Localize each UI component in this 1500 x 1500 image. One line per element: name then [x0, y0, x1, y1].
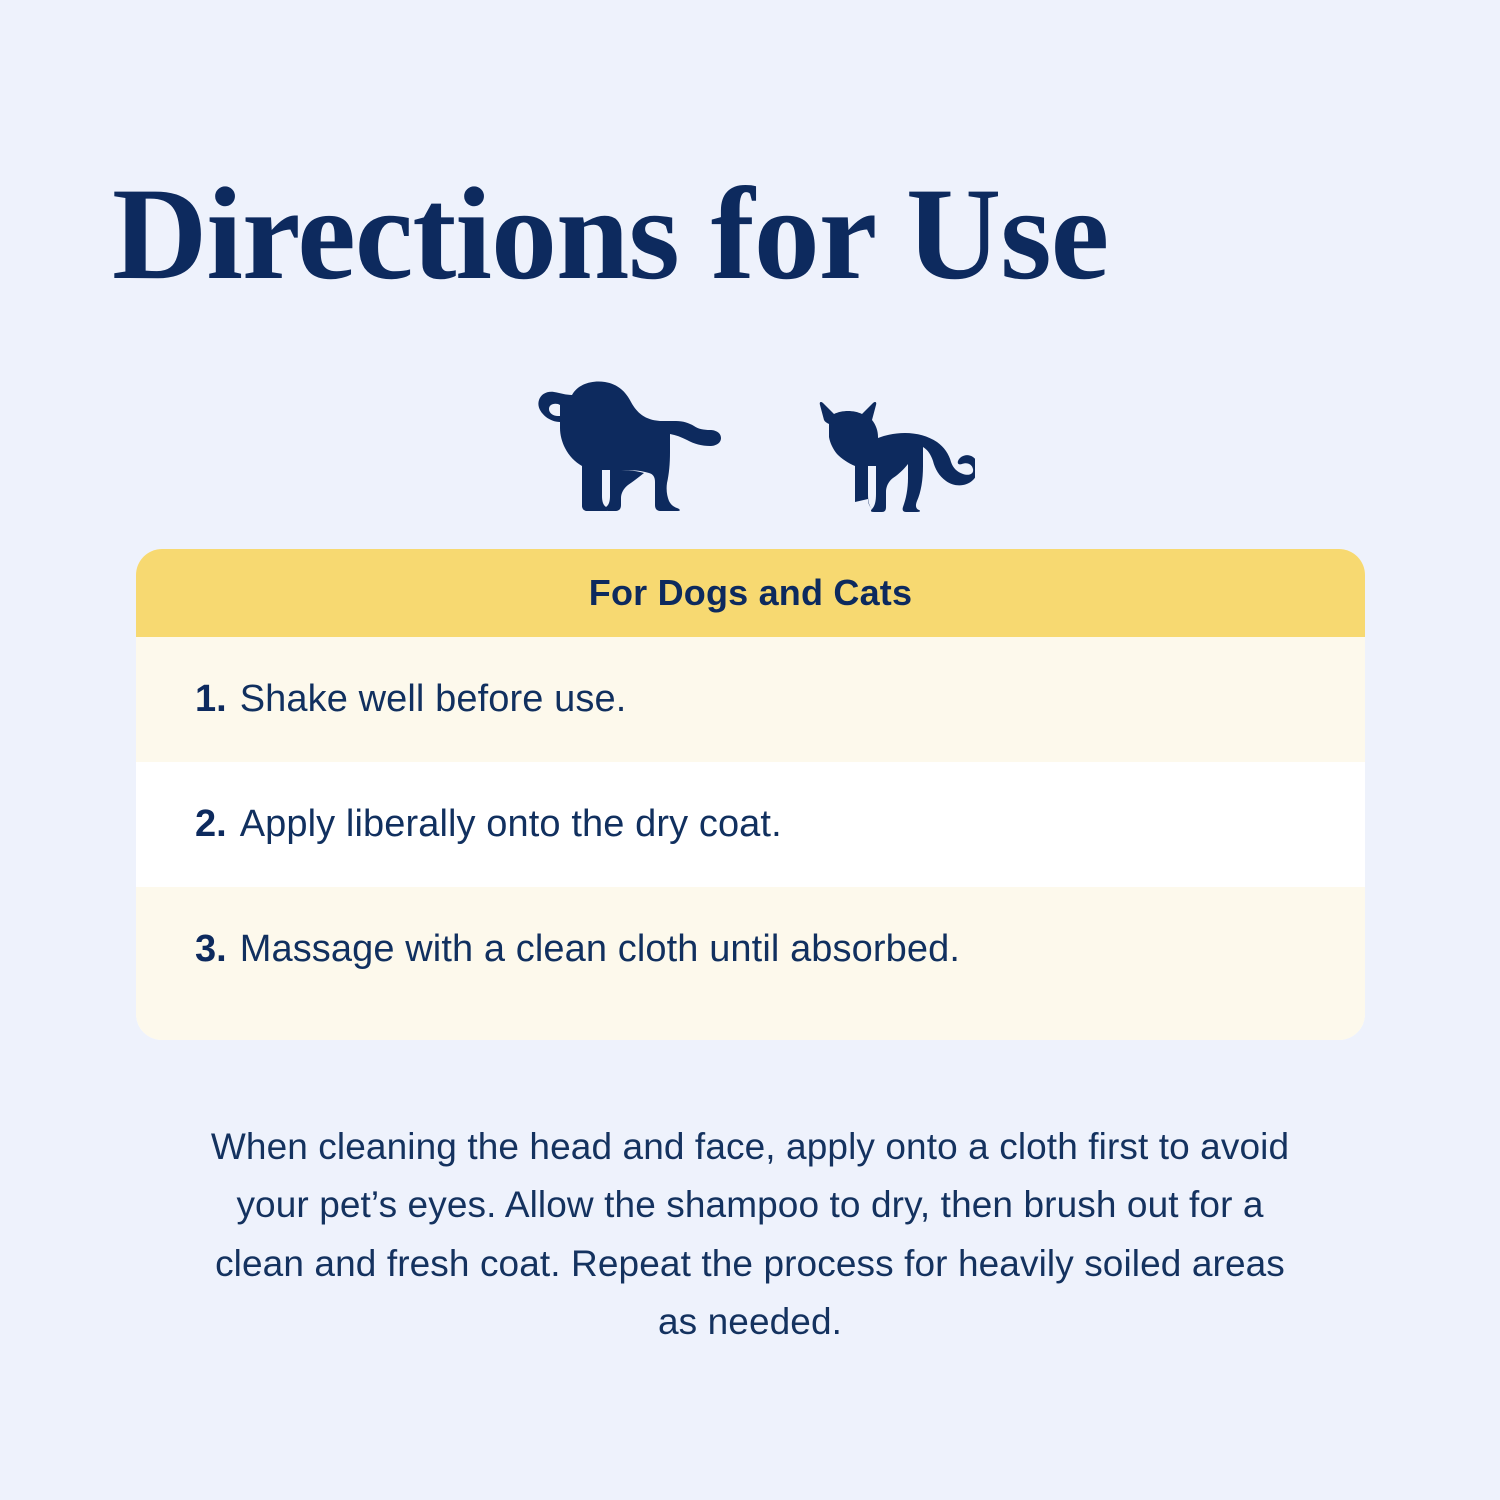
cat-silhouette-icon [800, 402, 975, 512]
step-text: Apply liberally onto the dry coat. [240, 803, 782, 846]
card-header: For Dogs and Cats [136, 549, 1365, 637]
dog-silhouette-icon [526, 378, 722, 512]
step-number: 2. [195, 803, 227, 846]
step-number: 1. [195, 678, 227, 721]
card-header-label: For Dogs and Cats [589, 572, 912, 614]
step-text: Shake well before use. [240, 678, 627, 721]
page-title: Directions for Use [112, 168, 1108, 300]
step-number: 3. [195, 928, 227, 971]
step-row: 2. Apply liberally onto the dry coat. [136, 762, 1365, 887]
card-bottom-spacer [136, 1012, 1365, 1040]
instructions-card: For Dogs and Cats 1. Shake well before u… [136, 549, 1365, 1040]
usage-note: When cleaning the head and face, apply o… [205, 1118, 1295, 1352]
directions-for-use-panel: Directions for Use For Dogs and Cats 1. … [0, 0, 1500, 1500]
step-text: Massage with a clean cloth until absorbe… [240, 928, 960, 971]
step-row: 1. Shake well before use. [136, 637, 1365, 762]
pet-icon-group [0, 378, 1500, 512]
step-row: 3. Massage with a clean cloth until abso… [136, 887, 1365, 1012]
